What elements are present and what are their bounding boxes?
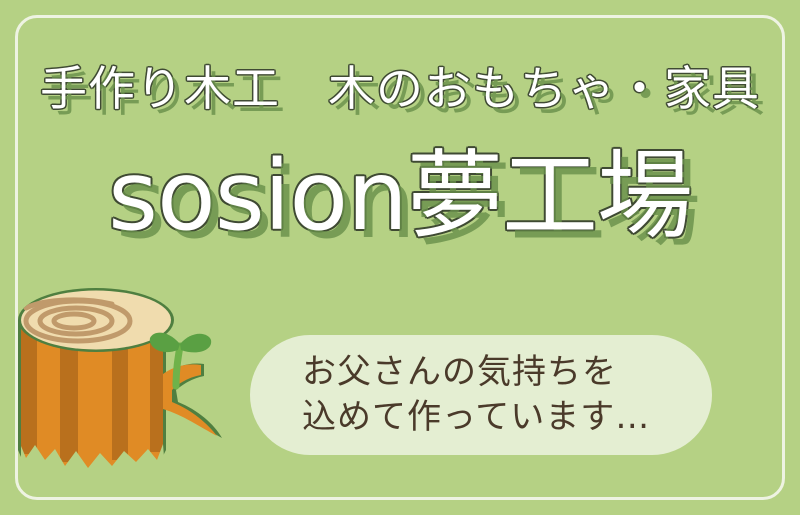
banner-subtitle: 手作り木工 木のおもちゃ・家具 <box>0 66 800 113</box>
banner-title: sosion夢工場 <box>0 146 800 247</box>
text-layer: 手作り木工 木のおもちゃ・家具 sosion夢工場 <box>0 0 800 515</box>
banner: 手作り木工 木のおもちゃ・家具 sosion夢工場 お父さんの気持ちを 込めて作… <box>0 0 800 515</box>
